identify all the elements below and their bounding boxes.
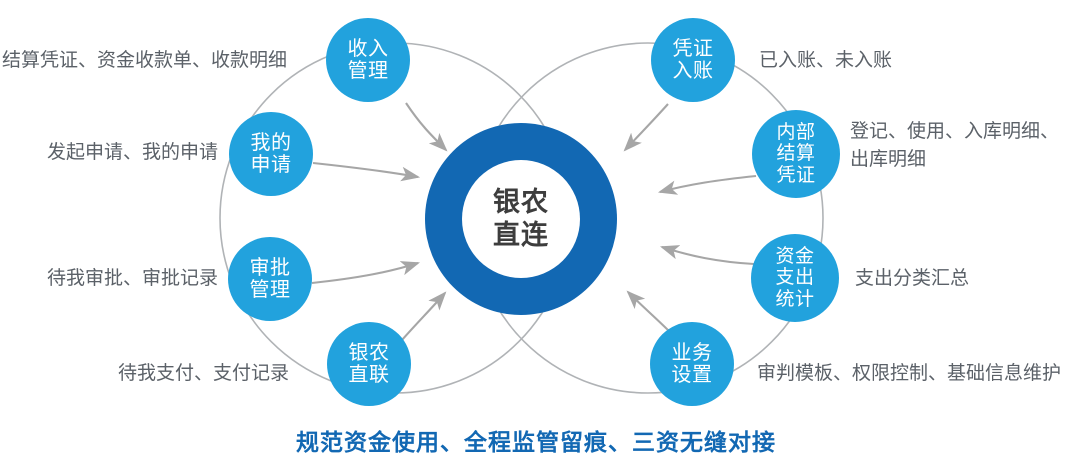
label-business-settings-detail: 审判模板、权限控制、基础信息维护 [757,360,1061,388]
arrow-fund-expenditure-stats [662,247,754,264]
node-approval-management[interactable]: 审批 管理 [228,237,312,321]
arrow-internal-settlement [660,176,756,192]
node-business-settings-line-2: 设置 [672,364,713,386]
node-fund-expenditure-stats-line-3: 统计 [775,289,814,310]
arrow-my-application [313,163,418,177]
label-approval-management-detail: 待我审批、审批记录 [47,265,218,293]
node-my-application-line-1: 我的 [251,132,292,154]
arrow-approval-management [312,263,418,283]
arrow-business-settings [628,292,672,334]
diagram-caption: 规范资金使用、全程监管留痕、三资无缝对接 [0,423,1072,457]
label-voucher-entry-detail: 已入账、未入账 [759,47,892,75]
node-internal-settlement-line-2: 结算 [776,143,815,164]
node-my-application-line-2: 申请 [251,154,292,176]
label-income-management-detail: 结算凭证、资金收款单、收款明细 [2,47,287,75]
node-bank-direct-connect-line-2: 直联 [349,364,390,386]
label-internal-settlement-detail: 登记、使用、入库明细、出库明细 [850,118,1070,173]
node-voucher-entry[interactable]: 凭证 入账 [651,18,735,102]
node-fund-expenditure-stats-line-1: 资金 [775,246,814,267]
node-internal-settlement-line-3: 凭证 [776,165,815,186]
node-fund-expenditure-stats-line-2: 支出 [775,267,814,288]
node-voucher-entry-line-1: 凭证 [673,38,714,60]
node-fund-expenditure-stats[interactable]: 资金 支出 统计 [751,234,839,322]
node-approval-management-line-2: 管理 [250,279,291,301]
arrow-voucher-entry [625,104,668,150]
label-fund-expenditure-stats-detail: 支出分类汇总 [855,265,969,293]
arrow-income-management [406,103,446,150]
node-income-management-line-2: 管理 [348,60,389,82]
node-business-settings-line-1: 业务 [672,342,713,364]
center-node-line-1: 银农 [493,186,549,219]
node-my-application[interactable]: 我的 申请 [229,112,313,196]
diagram-canvas: 银农 直连 收入 管理 我的 申请 审批 管理 银农 直联 凭证 入账 内部 结… [0,0,1072,471]
node-voucher-entry-line-2: 入账 [673,60,714,82]
center-node-label: 银农 直连 [462,160,580,278]
label-bank-direct-connect-detail: 待我支付、支付记录 [118,360,289,388]
node-bank-direct-connect[interactable]: 银农 直联 [327,322,411,406]
label-my-application-detail: 发起申请、我的申请 [47,139,218,167]
node-business-settings[interactable]: 业务 设置 [650,322,734,406]
node-income-management[interactable]: 收入 管理 [326,18,410,102]
arrow-bank-direct-connect [402,293,445,340]
node-internal-settlement-line-1: 内部 [776,122,815,143]
center-node-line-2: 直连 [493,219,549,252]
node-income-management-line-1: 收入 [348,38,389,60]
node-bank-direct-connect-line-1: 银农 [349,342,390,364]
node-approval-management-line-1: 审批 [250,257,291,279]
node-internal-settlement[interactable]: 内部 结算 凭证 [752,110,840,198]
center-node[interactable]: 银农 直连 [425,123,617,315]
